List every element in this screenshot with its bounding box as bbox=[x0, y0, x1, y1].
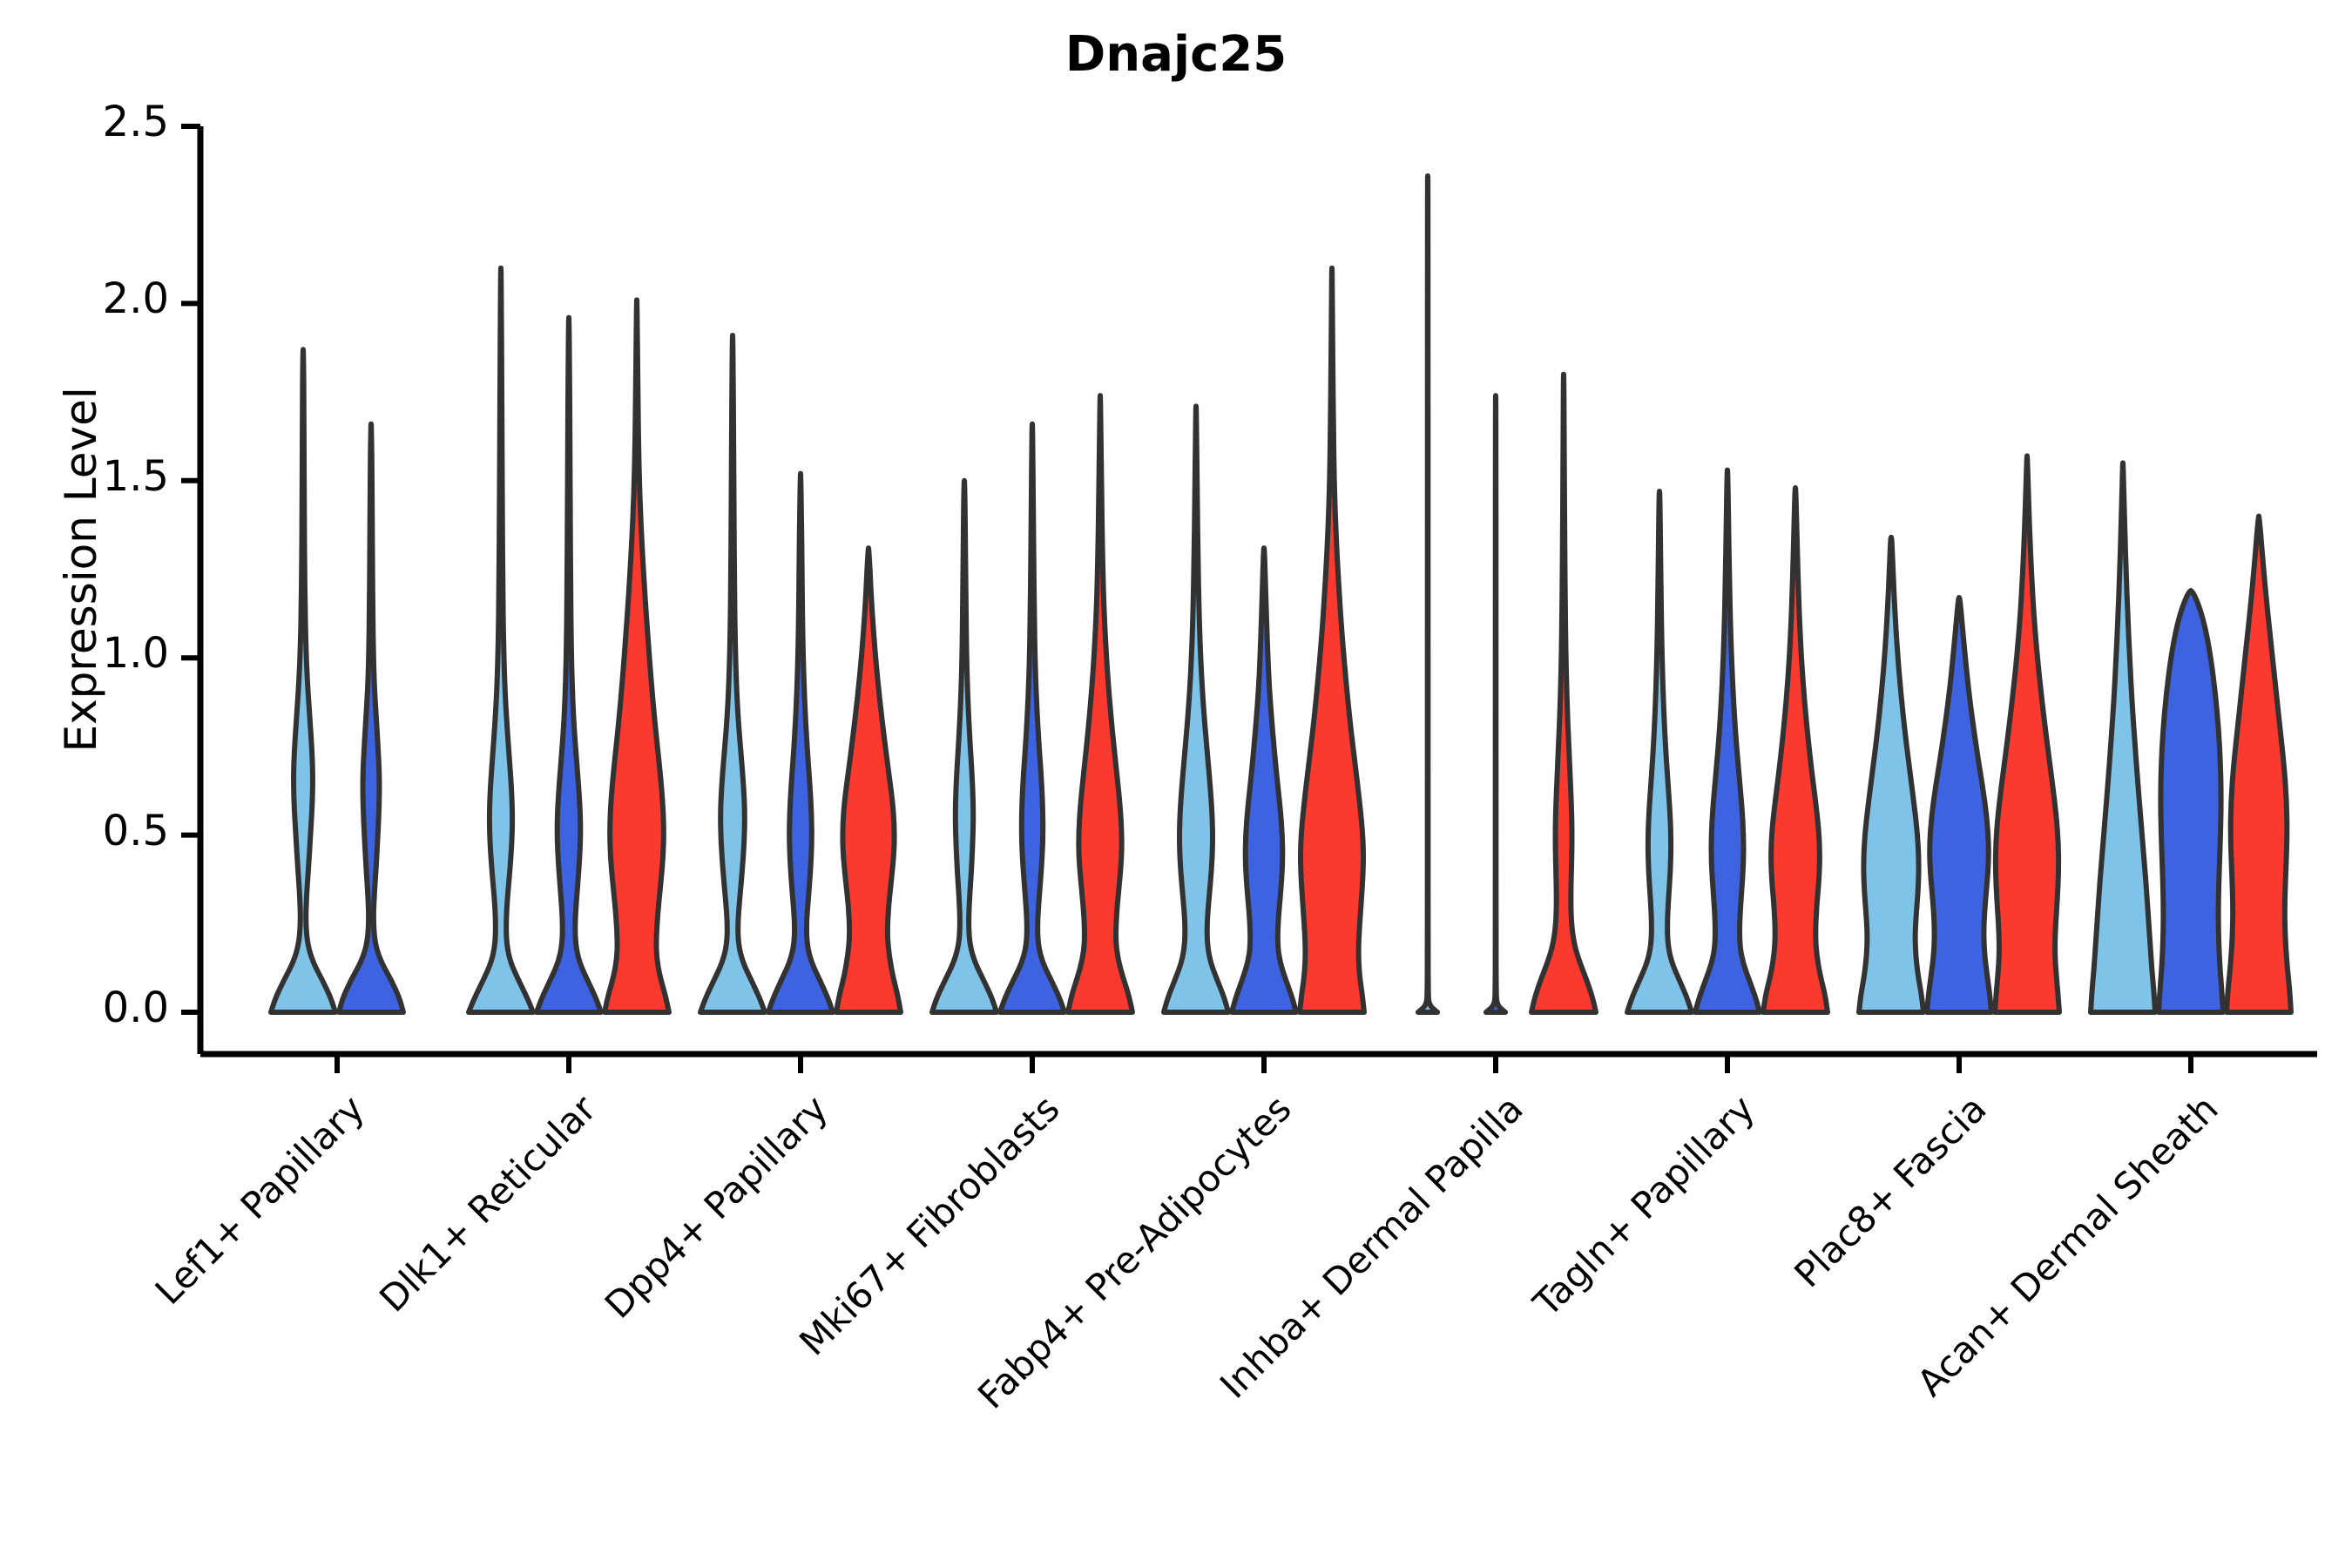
y-tick-label: 1.0 bbox=[103, 629, 169, 678]
violin-shape bbox=[1927, 598, 1991, 1012]
violin-shape bbox=[836, 548, 901, 1012]
violin-shape bbox=[1486, 395, 1505, 1012]
y-tick-label: 0.5 bbox=[103, 807, 169, 855]
violin-shape bbox=[1627, 491, 1692, 1012]
violin-shape bbox=[1859, 537, 1923, 1012]
violin-shape bbox=[1300, 268, 1364, 1012]
y-tick-label: 1.5 bbox=[103, 452, 169, 501]
violin-plot-figure: Dnajc25 0.00.51.01.52.02.5 Lef1+ Papilla… bbox=[0, 0, 2352, 1568]
violin-shape bbox=[605, 300, 669, 1012]
violin-shape bbox=[932, 481, 997, 1012]
violin-shape bbox=[537, 318, 601, 1012]
violin-shape bbox=[700, 335, 765, 1012]
violin-shape bbox=[2091, 463, 2155, 1012]
violin-shape bbox=[1695, 470, 1760, 1012]
violin-shape bbox=[1000, 424, 1064, 1012]
y-axis-label: Expression Level bbox=[56, 387, 106, 752]
violins-layer bbox=[271, 176, 2291, 1012]
violin-shape bbox=[1418, 176, 1437, 1012]
violin-shape bbox=[1531, 375, 1596, 1012]
violin-shape bbox=[1995, 456, 2059, 1012]
violin-shape bbox=[469, 268, 533, 1012]
violin-shape bbox=[339, 424, 403, 1012]
violin-shape bbox=[2227, 516, 2291, 1012]
y-tick-label: 0.0 bbox=[103, 983, 169, 1032]
violin-shape bbox=[1232, 548, 1296, 1012]
violin-shape bbox=[271, 349, 335, 1012]
violin-shape bbox=[768, 474, 833, 1012]
y-tick-label: 2.5 bbox=[103, 98, 169, 146]
violin-shape bbox=[1763, 488, 1828, 1012]
violin-shape bbox=[2159, 591, 2223, 1012]
violin-shape bbox=[1164, 406, 1228, 1012]
y-tick-label: 2.0 bbox=[103, 274, 169, 323]
violin-shape bbox=[1068, 395, 1132, 1012]
